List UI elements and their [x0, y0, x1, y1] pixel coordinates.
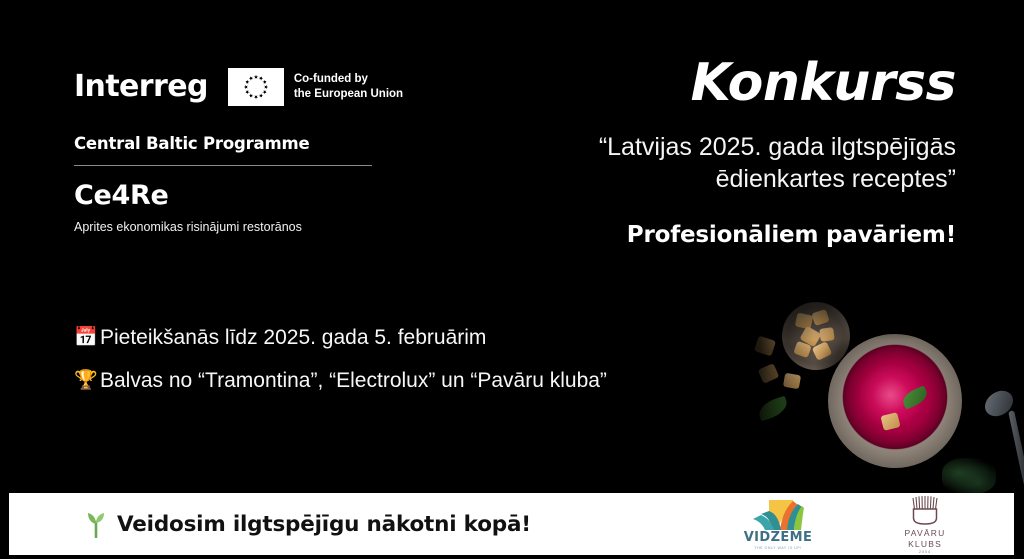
- pavaru-klubs-label: PAVĀRU KLUBS: [888, 528, 962, 549]
- photo-background: [724, 288, 1024, 496]
- programme-name: Central Baltic Programme: [74, 134, 434, 153]
- vidzeme-label: VIDZEME: [730, 531, 826, 544]
- crouton: [783, 373, 801, 390]
- spoon-handle: [1008, 410, 1024, 486]
- crouton: [754, 336, 776, 357]
- brand-divider: [74, 165, 372, 166]
- pavaru-klubs-year: 2004: [888, 550, 962, 554]
- details-list: 📅 Pieteikšanās līdz 2025. gada 5. februā…: [74, 325, 694, 393]
- vidzeme-sublabel: THE ONLY WAY IS UP!: [730, 546, 826, 550]
- page-title: Konkurss: [486, 56, 956, 111]
- pavaru-klubs-logo: PAVĀRU KLUBS 2004: [888, 494, 962, 554]
- footer-tagline-group: Veidosim ilgtspējīgu nākotni kopā!: [83, 510, 531, 538]
- soup-swirl: [858, 364, 932, 438]
- footer-tagline: Veidosim ilgtspējīgu nākotni kopā!: [117, 512, 531, 537]
- brand-block: Interreg: [74, 62, 434, 234]
- eu-funding-text: Co-funded by the European Union: [294, 72, 403, 101]
- photo-fade-top: [724, 288, 1024, 340]
- poster-canvas: Interreg: [0, 0, 1024, 559]
- footer-bar: Veidosim ilgtspējīgu nākotni kopā! VIDZE…: [9, 493, 1014, 555]
- soup-bowl: [828, 334, 962, 468]
- interreg-logo-row: Interreg: [74, 62, 434, 112]
- soup-crouton: [880, 412, 900, 431]
- project-tagline: Aprites ekonomikas risinājumi restorānos: [74, 220, 434, 234]
- list-item: 🏆 Balvas no “Tramontina”, “Electrolux” u…: [74, 368, 694, 393]
- sprout-icon: [83, 510, 109, 538]
- eu-flag-icon: [228, 68, 284, 106]
- pavaru-klubs-mark-icon: [906, 494, 944, 526]
- prizes-text: Balvas no “Tramontina”, “Electrolux” un …: [100, 368, 607, 393]
- trophy-icon: 🏆: [74, 371, 100, 390]
- headline-audience: Profesionāliem pavāriem!: [486, 222, 956, 248]
- beetroot-soup-photo: [724, 288, 1024, 496]
- crouton-dish: [782, 302, 850, 370]
- vidzeme-logo: VIDZEME THE ONLY WAY IS UP!: [730, 499, 826, 550]
- vidzeme-mark-icon: [751, 499, 805, 533]
- photo-fade-left: [724, 288, 814, 496]
- basil-leaf: [756, 396, 790, 421]
- deadline-text: Pieteikšanās līdz 2025. gada 5. februāri…: [100, 325, 486, 350]
- headline-subtitle: “Latvijas 2025. gada ilgtspējīgās ēdienk…: [486, 131, 956, 196]
- calendar-icon: 📅: [74, 328, 100, 347]
- spoon-icon: [980, 386, 1018, 422]
- crouton: [758, 363, 780, 384]
- list-item: 📅 Pieteikšanās līdz 2025. gada 5. februā…: [74, 325, 694, 350]
- soup-basil-leaf: [900, 385, 930, 409]
- herb-sprig: [942, 458, 996, 494]
- footer-logos: VIDZEME THE ONLY WAY IS UP! PAVĀRU KLUBS…: [730, 494, 962, 554]
- project-acronym: Ce4Re: [74, 180, 434, 211]
- headline-block: Konkurss “Latvijas 2025. gada ilgtspējīg…: [486, 56, 956, 248]
- interreg-wordmark: Interreg: [74, 72, 208, 102]
